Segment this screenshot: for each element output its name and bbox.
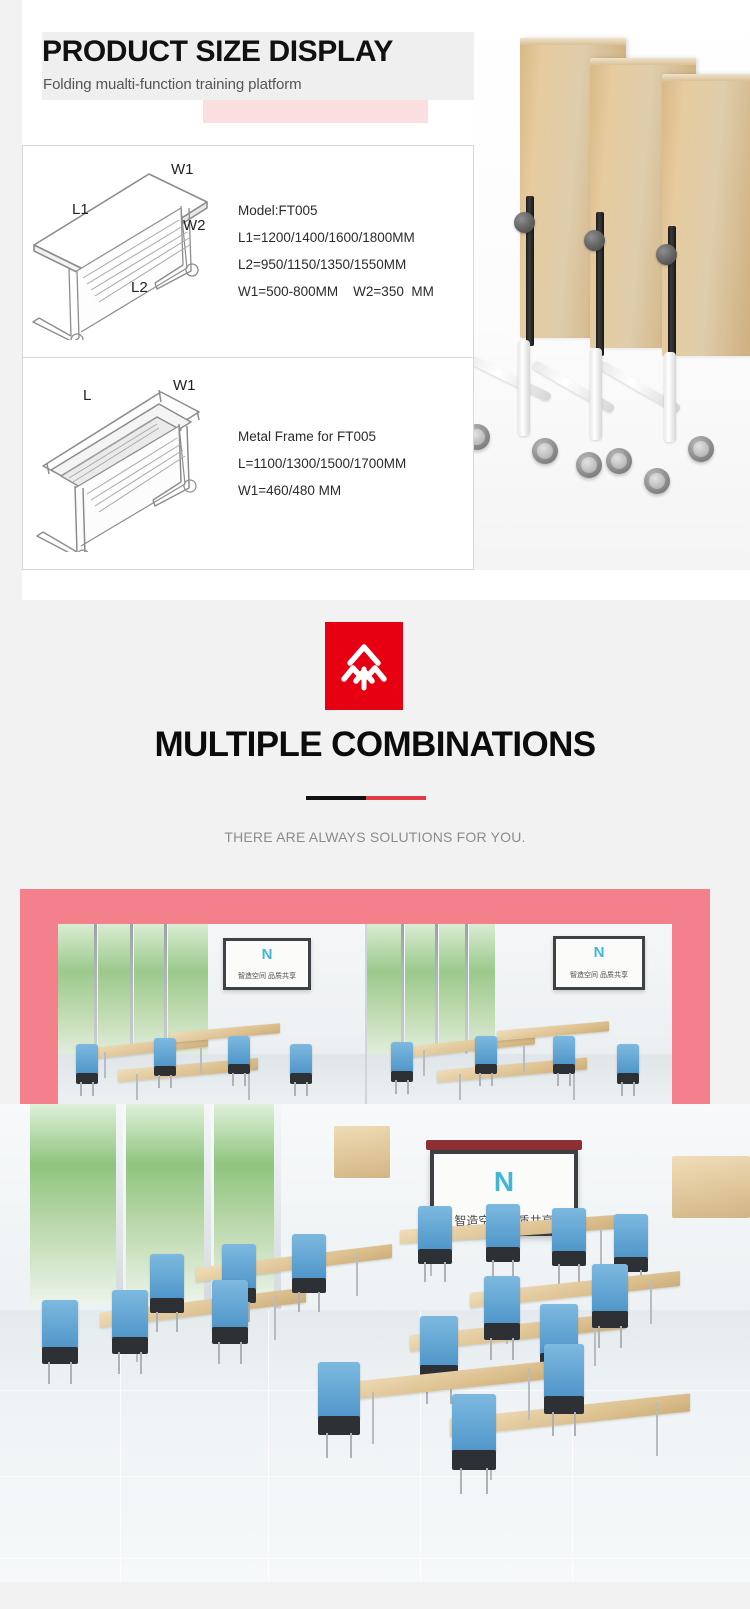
spec-line: Metal Frame for FT005: [238, 423, 406, 450]
spec-line: L2=950/1150/1350/1550MM: [238, 251, 434, 278]
spec-text-frame: Metal Frame for FT005 L=1100/1300/1500/1…: [238, 358, 406, 570]
dim-label-W1: W1: [171, 161, 194, 178]
n-logo-icon: N: [262, 947, 273, 962]
spec-line: W1=460/480 MM: [238, 477, 406, 504]
lock-knob-icon: [584, 230, 605, 251]
spec-line: L=1100/1300/1500/1700MM: [238, 450, 406, 477]
dim-label-L: L: [83, 387, 91, 404]
product-size-section: PRODUCT SIZE DISPLAY Folding mualti-func…: [0, 0, 750, 600]
screen-caption: 智造空间 品质共享: [226, 971, 308, 981]
bottom-strip: [0, 1582, 750, 1609]
folded-desks-photo: [474, 0, 750, 570]
divider: [306, 796, 426, 800]
spec-line: W1=500-800MM W2=350 MM: [238, 278, 434, 305]
n-logo-icon: N: [494, 1168, 514, 1196]
divider-dark: [306, 796, 366, 800]
spec-table: L1 W1 W2 L2 Model:FT005 L1=1200/1400/160…: [22, 145, 474, 570]
gallery-photo-pair: N 智造空间 品质共享: [58, 924, 672, 1110]
dim-label-L2: L2: [131, 279, 148, 296]
dim-label-W2: W2: [183, 217, 206, 234]
spec-row-frame: L W1 Metal Frame for FT005 L=1100/1300/1…: [23, 358, 473, 570]
spec-text-desk: Model:FT005 L1=1200/1400/1600/1800MM L2=…: [238, 146, 434, 357]
divider-red: [366, 796, 426, 800]
caster-wheel-icon: [532, 438, 558, 464]
section-tagline: THERE ARE ALWAYS SOLUTIONS FOR YOU.: [0, 829, 750, 845]
projector-screen: N 智造空间 品质共享: [223, 938, 311, 990]
dim-label-L1: L1: [72, 201, 89, 218]
n-logo-icon: N: [594, 945, 605, 960]
lock-knob-icon: [514, 212, 535, 233]
pink-accent-bar: [203, 100, 428, 123]
meeting-room-left: N 智造空间 品质共享: [58, 924, 365, 1110]
spec-line: L1=1200/1400/1600/1800MM: [238, 224, 434, 251]
projector-screen: N 智造空间 品质共享: [553, 936, 645, 990]
folding-training-desk-line-art: L1 W1 W2 L2: [23, 146, 243, 357]
screen-caption: 智造空间 品质共享: [556, 970, 642, 980]
brand-section: MULTIPLE COMBINATIONS THERE ARE ALWAYS S…: [0, 600, 750, 888]
page-title: PRODUCT SIZE DISPLAY: [35, 30, 505, 67]
training-classroom-photo: N 智造空间 品质共享: [0, 1104, 750, 1582]
caster-wheel-icon: [644, 468, 670, 494]
caster-wheel-icon: [688, 436, 714, 462]
page-subtitle: Folding mualti-function training platfor…: [35, 67, 505, 93]
dim-label-W1: W1: [173, 377, 196, 394]
page-title-block: PRODUCT SIZE DISPLAY Folding mualti-func…: [35, 30, 505, 93]
spec-line: Model:FT005: [238, 197, 434, 224]
caster-wheel-icon: [576, 452, 602, 478]
mountain-pine-logo: [325, 622, 403, 710]
spec-row-desk: L1 W1 W2 L2 Model:FT005 L1=1200/1400/160…: [23, 146, 473, 358]
lock-knob-icon: [656, 244, 677, 265]
section-headline: MULTIPLE COMBINATIONS: [0, 725, 750, 765]
metal-frame-line-art: L W1: [23, 358, 243, 570]
meeting-room-right: N 智造空间 品质共享: [365, 924, 672, 1110]
caster-wheel-icon: [606, 448, 632, 474]
